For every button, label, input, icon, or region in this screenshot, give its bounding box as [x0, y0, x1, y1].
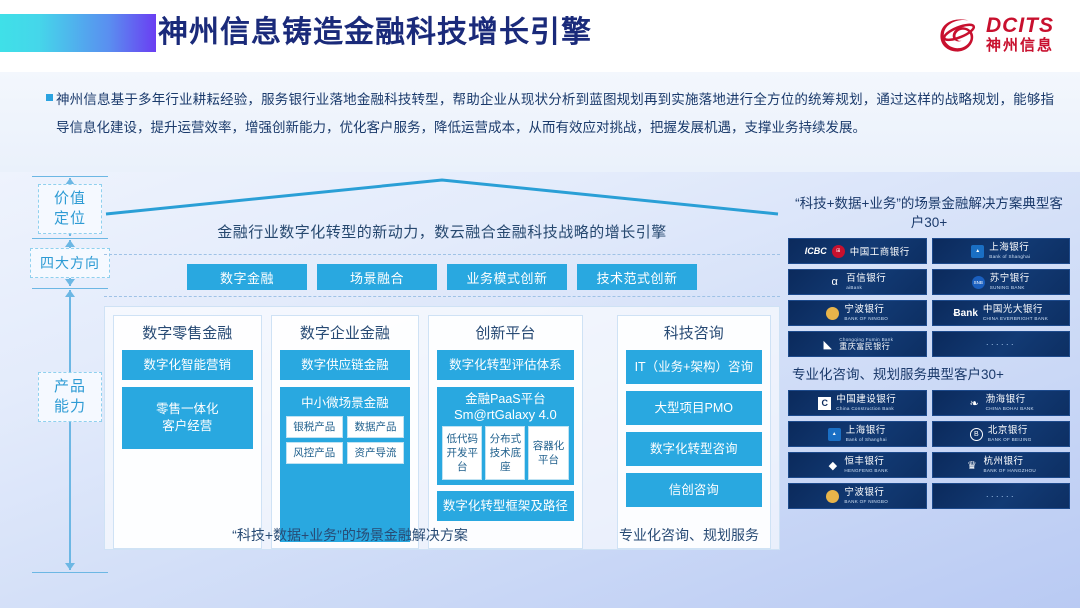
rail-arrow-capability — [69, 290, 71, 570]
logo-text: 杭州银行 BANK OF HANGZHOU — [983, 457, 1036, 473]
item-line1: 零售一体化 — [156, 401, 219, 418]
roof-peak-icon — [104, 178, 780, 218]
direction-chip-4[interactable]: 技术范式创新 — [577, 264, 697, 290]
bullet-icon — [46, 94, 53, 101]
item-retail-integrated-customer-ops[interactable]: 零售一体化 客户经营 — [122, 387, 253, 449]
logo-cell-more-1[interactable]: ······ — [932, 331, 1071, 357]
column-gap — [592, 315, 608, 549]
group-cell[interactable]: 风控产品 — [286, 442, 343, 464]
hangzhou-crown-icon: ♛ — [965, 459, 978, 472]
beijing-ring-icon: B — [970, 428, 983, 441]
direction-chip-3[interactable]: 业务模式创新 — [447, 264, 567, 290]
panel-caption-right: 专业化咨询、规划服务 — [603, 525, 775, 545]
group-financial-paas-platform: 金融PaaS平台 Sm@rtGalaxy 4.0 低代码开发平台 分布式技术底座… — [437, 387, 573, 485]
logo-label: 恒丰银行 — [844, 457, 884, 468]
intro-section: 神州信息基于多年行业耕耘经验，服务银行业落地金融科技转型，帮助企业从现状分析到蓝… — [0, 72, 1080, 172]
direction-chip-2[interactable]: 场景融合 — [317, 264, 437, 290]
logo-cell-bohai-bank[interactable]: ❧ 渤海银行 CHINA BOHAI BANK — [932, 390, 1071, 416]
ningbo-gold-icon — [826, 307, 839, 320]
aibank-alpha-icon: α — [828, 276, 841, 289]
rail-label-line1: 产品 — [39, 377, 101, 397]
item-digital-transformation-consulting[interactable]: 数字化转型咨询 — [626, 432, 762, 466]
logo-text: 渤海银行 CHINA BOHAI BANK — [986, 395, 1034, 411]
hengfeng-diamond-icon: ◆ — [826, 459, 839, 472]
logo-sublabel: SUNING BANK — [990, 285, 1025, 290]
logo-label: 宁波银行 — [844, 488, 884, 499]
logo-label: 中国光大银行 — [983, 305, 1043, 316]
logo-label: 苏宁银行 — [990, 274, 1030, 285]
logo-sublabel: HENGFENG BANK — [844, 468, 888, 473]
logo-sublabel: Bank of Shanghai — [989, 254, 1030, 259]
ellipsis-icon: ······ — [986, 339, 1016, 349]
panel-caption-left: “科技+数据+业务”的场景金融解决方案 — [115, 525, 585, 545]
logo-cell-bank-of-ningbo-2[interactable]: 宁波银行 BANK OF NINGBO — [788, 483, 927, 509]
group-cell[interactable]: 数据产品 — [347, 416, 404, 438]
rail-divider — [32, 572, 108, 573]
logo-text: 恒丰银行 HENGFENG BANK — [844, 457, 888, 473]
rail-divider — [32, 288, 108, 289]
rail-divider — [32, 176, 108, 177]
item-line2: 客户经营 — [162, 418, 212, 435]
shanghai-arrow-icon: ▲ — [971, 245, 984, 258]
logo-cell-hengfeng-bank[interactable]: ◆ 恒丰银行 HENGFENG BANK — [788, 452, 927, 478]
logo-cell-everbright-bank[interactable]: Ƀank 中国光大银行 CHINA EVERBRIGHT BANK — [932, 300, 1071, 326]
ellipsis-icon: ······ — [986, 491, 1016, 501]
slide-root: 神州信息铸造金融科技增长引擎 DCITS 神州信息 神州信息基于多年行业耕耘经验… — [0, 0, 1080, 608]
logo-text: 中国建设银行 China Construction Bank — [836, 395, 896, 411]
logo-sublabel: CHINA EVERBRIGHT BANK — [983, 316, 1048, 321]
logo-text: 宁波银行 BANK OF NINGBO — [844, 488, 888, 504]
logo-cell-bank-of-ningbo[interactable]: 宁波银行 BANK OF NINGBO — [788, 300, 927, 326]
paas-title: 金融PaaS平台 — [442, 391, 568, 407]
suning-circle-icon: SNB — [972, 276, 985, 289]
dashed-separator — [104, 296, 780, 297]
left-axis-rail: 价值 定位 四大方向 产品 能力 — [28, 176, 114, 576]
direction-chip-1[interactable]: 数字金融 — [187, 264, 307, 290]
logo-sublabel: BANK OF HANGZHOU — [983, 468, 1036, 473]
logo-label: 中国工商银行 — [850, 244, 910, 258]
center-stack: 金融行业数字化转型的新动力，数云融合金融科技战略的增长引擎 数字金融 场景融合 … — [104, 178, 780, 568]
paas-cell[interactable]: 容器化平台 — [528, 426, 568, 480]
ningbo-gold-icon — [826, 490, 839, 503]
rail-label-four-directions: 四大方向 — [30, 248, 110, 278]
logo-sublabel: BANK OF BEIJING — [988, 437, 1032, 442]
logo-cn-label: 神州信息 — [986, 38, 1054, 53]
customer-logo-panel: “科技+数据+业务”的场景金融解决方案典型客户30+ ICBC ⊞ 中国工商银行… — [788, 190, 1070, 560]
customer-heading-1: “科技+数据+业务”的场景金融解决方案典型客户30+ — [788, 190, 1070, 238]
four-directions-row: 数字金融 场景融合 业务模式创新 技术范式创新 — [104, 264, 780, 292]
logo-cell-icbc[interactable]: ICBC ⊞ 中国工商银行 — [788, 238, 927, 264]
dashed-separator — [104, 254, 780, 255]
logo-sublabel: CHINA BOHAI BANK — [986, 406, 1034, 411]
value-statement-band: 金融行业数字化转型的新动力，数云融合金融科技战略的增长引擎 — [104, 216, 780, 250]
ccb-icon: C — [818, 397, 831, 410]
logo-sublabel: BANK OF NINGBO — [844, 316, 888, 321]
column-title: 创新平台 — [437, 324, 573, 344]
product-capability-panel: 数字零售金融 数字化智能营销 零售一体化 客户经营 数字企业金融 数字供应链金融… — [104, 306, 780, 550]
logo-cell-more-2[interactable]: ······ — [932, 483, 1071, 509]
logo-text: 宁波银行 BANK OF NINGBO — [844, 305, 888, 321]
logo-text: 百信银行 aiBank — [846, 274, 886, 290]
rail-label-product-capability: 产品 能力 — [38, 372, 102, 422]
group-cell[interactable]: 银税产品 — [286, 416, 343, 438]
item-digital-transformation-assessment[interactable]: 数字化转型评估体系 — [437, 350, 573, 380]
logo-text: 上海银行 Bank of Shanghai — [989, 243, 1030, 259]
customer-logo-grid-1: ICBC ⊞ 中国工商银行 ▲ 上海银行 Bank of Shanghai α … — [788, 238, 1070, 357]
intro-paragraph: 神州信息基于多年行业耕耘经验，服务银行业落地金融科技转型，帮助企业从现状分析到蓝… — [34, 86, 1054, 142]
paas-cell[interactable]: 低代码开发平台 — [442, 426, 482, 480]
logo-label: 上海银行 — [989, 243, 1029, 254]
item-large-project-pmo[interactable]: 大型项目PMO — [626, 391, 762, 425]
icbc-icon: ICBC — [805, 246, 827, 256]
logo-label: 宁波银行 — [844, 305, 884, 316]
item-digital-smart-marketing[interactable]: 数字化智能营销 — [122, 350, 253, 380]
logo-cell-suning-bank[interactable]: SNB 苏宁银行 SUNING BANK — [932, 269, 1071, 295]
logo-cell-bank-of-beijing[interactable]: B 北京银行 BANK OF BEIJING — [932, 421, 1071, 447]
item-digital-supply-chain-finance[interactable]: 数字供应链金融 — [280, 350, 411, 380]
column-digital-retail-finance: 数字零售金融 数字化智能营销 零售一体化 客户经营 — [113, 315, 262, 549]
logo-text: 北京银行 BANK OF BEIJING — [988, 426, 1032, 442]
rail-label-line1: 价值 — [39, 189, 101, 209]
paas-subtitle: Sm@rtGalaxy 4.0 — [442, 407, 568, 423]
item-xinchuang-consulting[interactable]: 信创咨询 — [626, 473, 762, 507]
paas-cell-grid: 低代码开发平台 分布式技术底座 容器化平台 — [442, 426, 568, 480]
icbc-seal-icon: ⊞ — [832, 245, 845, 258]
bohai-wave-icon: ❧ — [968, 397, 981, 410]
rail-label-line2: 能力 — [39, 397, 101, 417]
dcits-logo-text: DCITS 神州信息 — [986, 15, 1054, 53]
logo-text: 上海银行 Bank of Shanghai — [846, 426, 887, 442]
value-statement-text: 金融行业数字化转型的新动力，数云融合金融科技战略的增长引擎 — [104, 216, 780, 250]
rail-label-line2: 定位 — [39, 209, 101, 229]
column-digital-enterprise-finance: 数字企业金融 数字供应链金融 中小微场景金融 银税产品 数据产品 风控产品 资产… — [271, 315, 420, 549]
logo-label: 渤海银行 — [986, 395, 1026, 406]
logo-cell-bank-of-shanghai[interactable]: ▲ 上海银行 Bank of Shanghai — [932, 238, 1071, 264]
group-cell-grid: 银税产品 数据产品 风控产品 资产导流 — [286, 416, 405, 464]
column-innovation-platform: 创新平台 数字化转型评估体系 金融PaaS平台 Sm@rtGalaxy 4.0 … — [428, 315, 582, 549]
logo-cell-chongqing-fumin-bank[interactable]: ◣ Chongqing Fumin Bank 重庆富民银行 — [788, 331, 927, 357]
logo-sublabel: BANK OF NINGBO — [844, 499, 888, 504]
customer-logo-grid-2: C 中国建设银行 China Construction Bank ❧ 渤海银行 … — [788, 390, 1070, 509]
column-title: 数字零售金融 — [122, 324, 253, 344]
logo-label: 百信银行 — [846, 274, 886, 285]
dcits-logo: DCITS 神州信息 — [939, 14, 1054, 54]
page-title: 神州信息铸造金融科技增长引擎 — [158, 12, 592, 54]
logo-cell-ccb[interactable]: C 中国建设银行 China Construction Bank — [788, 390, 927, 416]
logo-label: 重庆富民银行 — [839, 342, 890, 351]
rail-label-value-position: 价值 定位 — [38, 184, 102, 234]
logo-cell-bank-of-hangzhou[interactable]: ♛ 杭州银行 BANK OF HANGZHOU — [932, 452, 1071, 478]
item-transformation-framework-path[interactable]: 数字化转型框架及路径 — [437, 491, 573, 521]
logo-en-label: DCITS — [986, 15, 1054, 36]
logo-text: Chongqing Fumin Bank 重庆富民银行 — [839, 337, 893, 351]
item-it-consulting[interactable]: IT（业务+架构）咨询 — [626, 350, 762, 384]
logo-sublabel: Bank of Shanghai — [846, 437, 887, 442]
paas-cell[interactable]: 分布式技术底座 — [485, 426, 525, 480]
customer-heading-2: 专业化咨询、规划服务典型客户30+ — [788, 357, 1070, 390]
logo-label: 杭州银行 — [983, 457, 1023, 468]
logo-label: 中国建设银行 — [836, 395, 896, 406]
logo-sublabel: China Construction Bank — [836, 406, 894, 411]
column-title: 科技咨询 — [626, 324, 762, 344]
fumin-mountain-icon: ◣ — [821, 338, 834, 351]
group-title: 中小微场景金融 — [286, 392, 405, 411]
slide-header: 神州信息铸造金融科技增长引擎 DCITS 神州信息 — [0, 0, 1080, 72]
logo-text: 中国光大银行 CHINA EVERBRIGHT BANK — [983, 305, 1048, 321]
rail-label-line1: 四大方向 — [31, 253, 109, 273]
rail-divider — [32, 238, 108, 239]
logo-sublabel: aiBank — [846, 285, 862, 290]
logo-label: 北京银行 — [988, 426, 1028, 437]
column-technology-consulting: 科技咨询 IT（业务+架构）咨询 大型项目PMO 数字化转型咨询 信创咨询 — [617, 315, 771, 549]
logo-label: 上海银行 — [846, 426, 886, 437]
ebank-icon: Ƀank — [953, 308, 977, 319]
logo-cell-bank-of-shanghai-2[interactable]: ▲ 上海银行 Bank of Shanghai — [788, 421, 927, 447]
logo-text: 苏宁银行 SUNING BANK — [990, 274, 1030, 290]
dcits-swirl-icon — [939, 14, 979, 54]
shanghai-arrow-icon: ▲ — [828, 428, 841, 441]
group-sme-scenario-finance: 中小微场景金融 银税产品 数据产品 风控产品 资产导流 — [280, 387, 411, 542]
title-accent-bar — [0, 14, 156, 52]
group-cell[interactable]: 资产导流 — [347, 442, 404, 464]
logo-cell-aibank[interactable]: α 百信银行 aiBank — [788, 269, 927, 295]
column-title: 数字企业金融 — [280, 324, 411, 344]
